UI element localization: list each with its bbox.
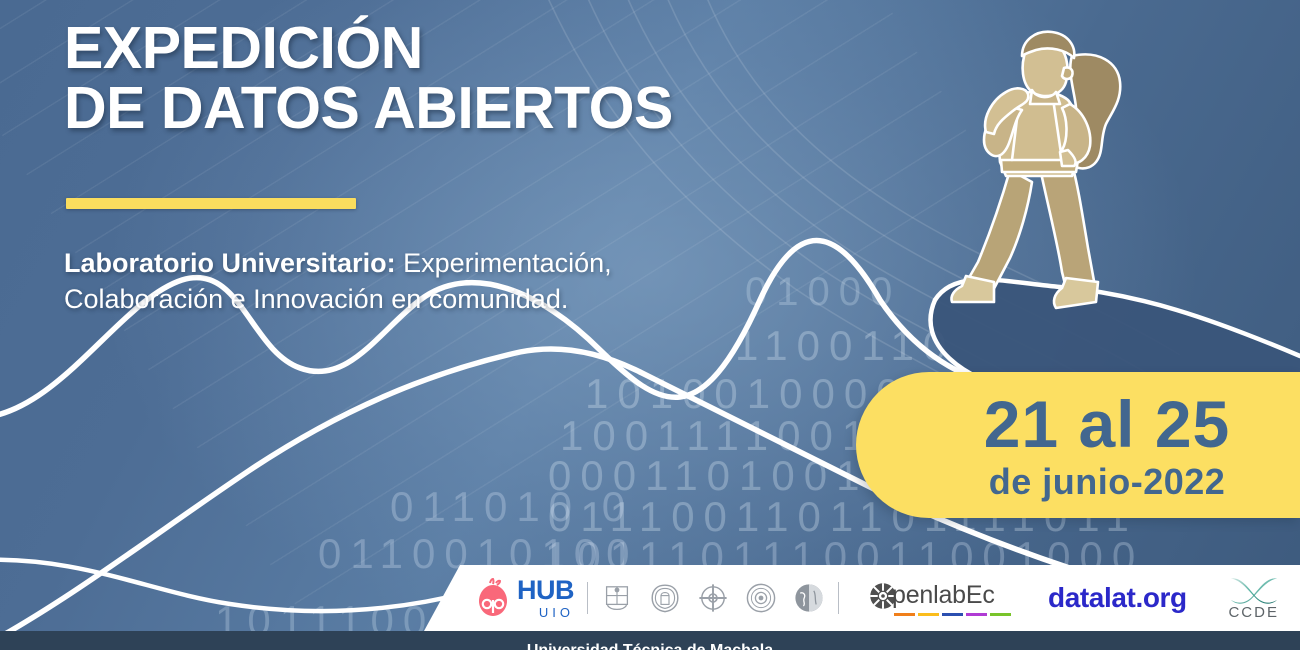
subtitle: Laboratorio Universitario: Experimentaci…	[64, 246, 704, 318]
footer-text: Universidad Técnica de Machala	[0, 642, 1300, 650]
headline-line-1: EXPEDICIÓN	[64, 15, 423, 81]
date-day-range: 21 al 25	[984, 391, 1231, 457]
poster-canvas: 0100011001101010010000011000100111100100…	[0, 0, 1300, 650]
subtitle-line-2: Colaboración e Innovación en comunidad.	[64, 284, 568, 314]
date-badge: 21 al 25 de junio-2022	[856, 372, 1300, 518]
subtitle-bold: Laboratorio Universitario:	[64, 248, 396, 278]
page-title: EXPEDICIÓN DE DATOS ABIERTOS	[64, 18, 744, 138]
date-month-year: de junio-2022	[989, 464, 1226, 500]
yellow-divider-rule	[66, 198, 356, 209]
footer-strip: Universidad Técnica de Machala	[0, 631, 1300, 650]
subtitle-rest: Experimentación,	[396, 248, 612, 278]
headline-line-2: DE DATOS ABIERTOS	[64, 78, 744, 138]
